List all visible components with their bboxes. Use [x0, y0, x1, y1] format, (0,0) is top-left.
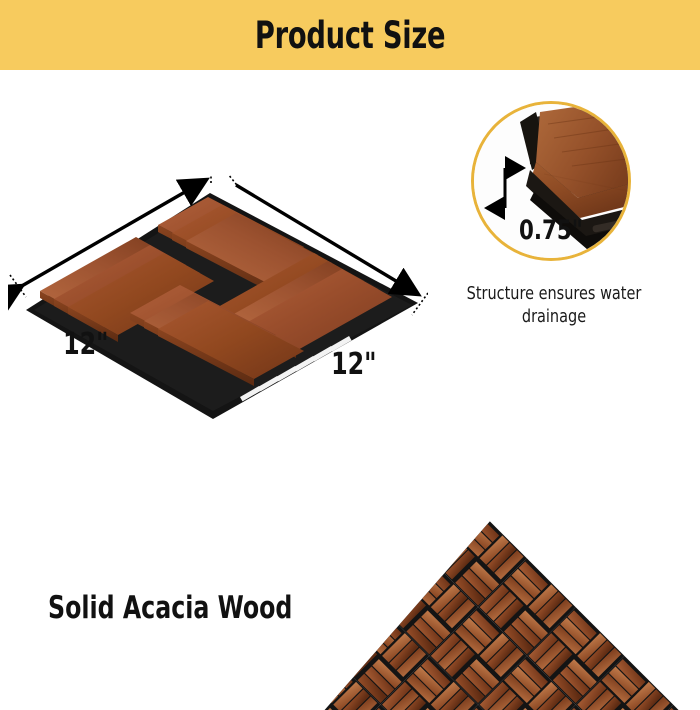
thickness-callout: 0.75"	[471, 101, 631, 261]
dimension-label-length: 12"	[331, 347, 376, 382]
footer-label: Solid Acacia Wood	[48, 590, 292, 626]
callout-caption: Structure ensures water drainage	[447, 283, 660, 330]
tile-illustration	[8, 175, 428, 435]
dimension-label-width: 12"	[63, 327, 108, 362]
tile-diagram: 12" 12"	[8, 175, 428, 435]
header-banner: Product Size	[0, 0, 700, 70]
page-title: Product Size	[255, 14, 445, 57]
thickness-value: 0.75"	[483, 215, 619, 246]
